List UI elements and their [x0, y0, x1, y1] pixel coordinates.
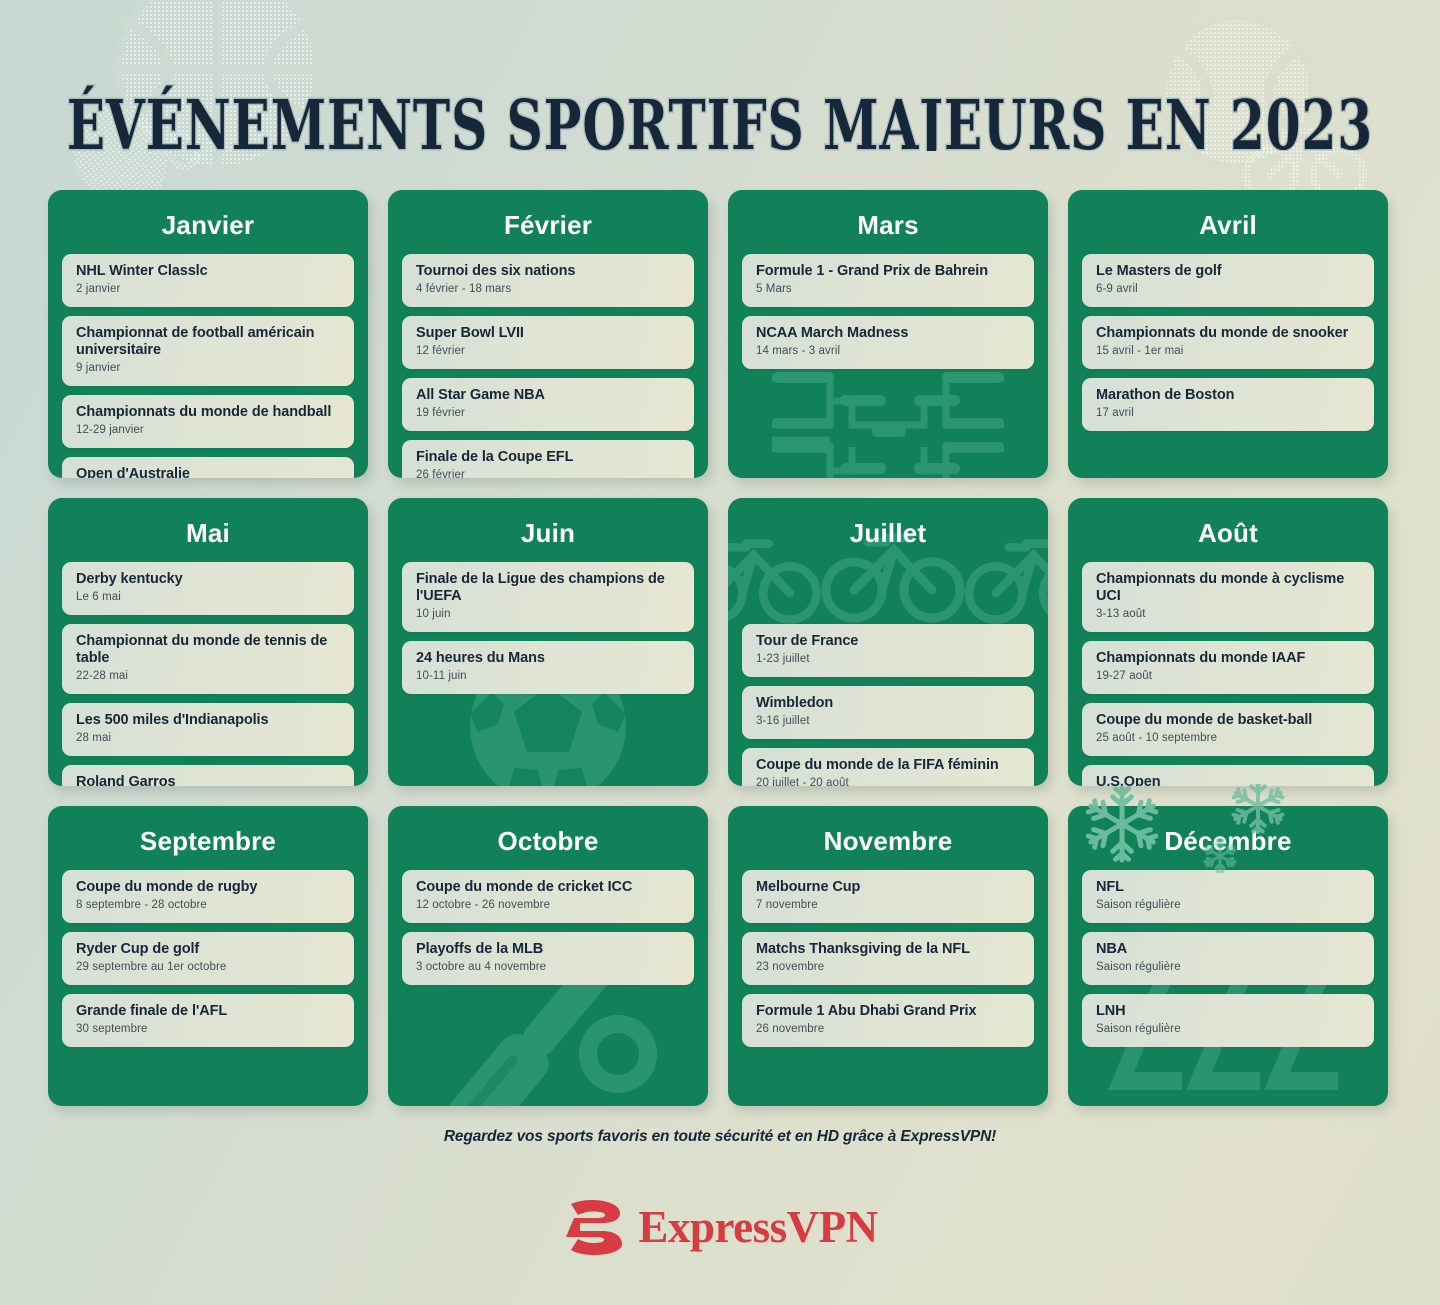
event-date: 10 juin — [416, 608, 682, 622]
event-item[interactable]: Open d'Australie16 au 29 janvier — [62, 457, 354, 478]
event-date: 10-11 juin — [416, 670, 682, 684]
month-card-janvier: JanvierNHL Winter Classlc2 janvierChampi… — [48, 190, 368, 478]
event-list: NHL Winter Classlc2 janvierChampionnat d… — [62, 254, 354, 478]
month-card-novembre: NovembreMelbourne Cup7 novembreMatchs Th… — [728, 806, 1048, 1106]
event-date: Saison régulière — [1096, 961, 1362, 975]
event-list: Melbourne Cup7 novembreMatchs Thanksgivi… — [742, 870, 1034, 1047]
event-item[interactable]: Matchs Thanksgiving de la NFL23 novembre — [742, 932, 1034, 985]
event-name: Marathon de Boston — [1096, 387, 1362, 404]
event-date: 19 février — [416, 407, 682, 421]
event-date: 12 février — [416, 345, 682, 359]
event-item[interactable]: NBASaison régulière — [1082, 932, 1374, 985]
month-title: Juillet — [742, 512, 1034, 562]
event-name: Ryder Cup de golf — [76, 941, 342, 958]
event-item[interactable]: NCAA March Madness14 mars - 3 avril — [742, 316, 1034, 369]
event-item[interactable]: Championnats du monde de handball12-29 j… — [62, 395, 354, 448]
event-item[interactable]: 24 heures du Mans10-11 juin — [402, 641, 694, 694]
month-card-avril: AvrilLe Masters de golf6-9 avrilChampion… — [1068, 190, 1388, 478]
event-item[interactable]: LNHSaison régulière — [1082, 994, 1374, 1047]
event-name: Finale de la Coupe EFL — [416, 449, 682, 466]
event-item[interactable]: Coupe du monde de basket-ball25 août - 1… — [1082, 703, 1374, 756]
month-title: Avril — [1082, 204, 1374, 254]
expressvpn-logo-icon — [562, 1198, 624, 1256]
event-item[interactable]: NHL Winter Classlc2 janvier — [62, 254, 354, 307]
event-name: Melbourne Cup — [756, 879, 1022, 896]
event-date: Saison régulière — [1096, 899, 1362, 913]
event-item[interactable]: All Star Game NBA19 février — [402, 378, 694, 431]
event-name: Formule 1 - Grand Prix de Bahrein — [756, 263, 1022, 280]
event-name: Coupe du monde de cricket ICC — [416, 879, 682, 896]
event-date: 29 septembre au 1er octobre — [76, 961, 342, 975]
event-name: Le Masters de golf — [1096, 263, 1362, 280]
event-name: Championnat de football américain univer… — [76, 325, 342, 359]
event-date: 4 février - 18 mars — [416, 283, 682, 297]
event-name: Championnats du monde à cyclisme UCI — [1096, 571, 1362, 605]
event-item[interactable]: Formule 1 - Grand Prix de Bahrein5 Mars — [742, 254, 1034, 307]
month-card-juillet: JuilletTour de France1-23 juilletWimbled… — [728, 498, 1048, 786]
event-item[interactable]: Championnat du monde de tennis de table2… — [62, 624, 354, 694]
event-name: LNH — [1096, 1003, 1362, 1020]
event-date: 3 octobre au 4 novembre — [416, 961, 682, 975]
event-item[interactable]: Formule 1 Abu Dhabi Grand Prix26 novembr… — [742, 994, 1034, 1047]
event-item[interactable]: Finale de la Ligue des champions de l'UE… — [402, 562, 694, 632]
month-title: Janvier — [62, 204, 354, 254]
event-date: 12-29 janvier — [76, 424, 342, 438]
event-date: Saison régulière — [1096, 1023, 1362, 1037]
page-title-text: ÉVÉNEMENTS SPORTIFS MAJEURS EN 2023 — [67, 85, 1373, 151]
event-item[interactable]: Championnats du monde de snooker15 avril… — [1082, 316, 1374, 369]
event-name: Championnats du monde IAAF — [1096, 650, 1362, 667]
event-date: 19-27 août — [1096, 670, 1362, 684]
event-date: 26 novembre — [756, 1023, 1022, 1037]
month-card-aot: AoûtChampionnats du monde à cyclisme UCI… — [1068, 498, 1388, 786]
event-date: 22-28 mai — [76, 670, 342, 684]
month-card-octobre: OctobreCoupe du monde de cricket ICC12 o… — [388, 806, 708, 1106]
event-name: NFL — [1096, 879, 1362, 896]
expressvpn-logo[interactable]: ExpressVPN — [0, 1198, 1440, 1256]
event-list: Le Masters de golf6-9 avrilChampionnats … — [1082, 254, 1374, 431]
event-name: Matchs Thanksgiving de la NFL — [756, 941, 1022, 958]
event-name: Wimbledon — [756, 695, 1022, 712]
event-list: NFLSaison régulièreNBASaison régulièreLN… — [1082, 870, 1374, 1047]
event-date: 2 janvier — [76, 283, 342, 297]
event-date: 9 janvier — [76, 362, 342, 376]
event-name: Coupe du monde de la FIFA féminin — [756, 757, 1022, 774]
event-name: Formule 1 Abu Dhabi Grand Prix — [756, 1003, 1022, 1020]
event-item[interactable]: Super Bowl LVII12 février — [402, 316, 694, 369]
footer-tagline: Regardez vos sports favoris en toute séc… — [0, 1128, 1440, 1146]
event-item[interactable]: NFLSaison régulière — [1082, 870, 1374, 923]
event-list: Finale de la Ligue des champions de l'UE… — [402, 562, 694, 694]
event-item[interactable]: Derby kentuckyLe 6 mai — [62, 562, 354, 615]
event-item[interactable]: Roland Garros28 mai - 11 juin — [62, 765, 354, 786]
event-name: Championnats du monde de handball — [76, 404, 342, 421]
event-date: 5 Mars — [756, 283, 1022, 297]
event-date: 1-23 juillet — [756, 653, 1022, 667]
event-name: Playoffs de la MLB — [416, 941, 682, 958]
month-title: Septembre — [62, 820, 354, 870]
expressvpn-wordmark: ExpressVPN — [638, 1205, 877, 1250]
month-card-septembre: SeptembreCoupe du monde de rugby8 septem… — [48, 806, 368, 1106]
event-item[interactable]: Finale de la Coupe EFL26 février — [402, 440, 694, 478]
event-date: 14 mars - 3 avril — [756, 345, 1022, 359]
event-list: Derby kentuckyLe 6 maiChampionnat du mon… — [62, 562, 354, 786]
event-name: Finale de la Ligue des champions de l'UE… — [416, 571, 682, 605]
month-title: Juin — [402, 512, 694, 562]
event-date: Le 6 mai — [76, 591, 342, 605]
months-grid: JanvierNHL Winter Classlc2 janvierChampi… — [48, 190, 1392, 1106]
event-item[interactable]: Championnats du monde IAAF19-27 août — [1082, 641, 1374, 694]
event-date: 26 février — [416, 469, 682, 478]
event-date: 25 août - 10 septembre — [1096, 732, 1362, 746]
event-list: Coupe du monde de cricket ICC12 octobre … — [402, 870, 694, 985]
event-date: 30 septembre — [76, 1023, 342, 1037]
event-name: Grande finale de l'AFL — [76, 1003, 342, 1020]
page-title: ÉVÉNEMENTS SPORTIFS MAJEURS EN 2023 — [0, 0, 1440, 182]
event-item[interactable]: Melbourne Cup7 novembre — [742, 870, 1034, 923]
event-name: Les 500 miles d'Indianapolis — [76, 712, 342, 729]
event-name: Coupe du monde de rugby — [76, 879, 342, 896]
event-name: Tour de France — [756, 633, 1022, 650]
event-date: 12 octobre - 26 novembre — [416, 899, 682, 913]
month-title: Août — [1082, 512, 1374, 562]
event-date: 6-9 avril — [1096, 283, 1362, 297]
event-name: 24 heures du Mans — [416, 650, 682, 667]
month-title: Février — [402, 204, 694, 254]
event-item[interactable]: U.S.Open28 août - 10 septembre — [1082, 765, 1374, 786]
event-name: Championnats du monde de snooker — [1096, 325, 1362, 342]
event-name: Super Bowl LVII — [416, 325, 682, 342]
event-name: Championnat du monde de tennis de table — [76, 633, 342, 667]
month-title: Mars — [742, 204, 1034, 254]
event-name: Coupe du monde de basket-ball — [1096, 712, 1362, 729]
event-date: 8 septembre - 28 octobre — [76, 899, 342, 913]
event-date: 20 juillet - 20 août — [756, 777, 1022, 786]
event-item[interactable]: Marathon de Boston17 avril — [1082, 378, 1374, 431]
event-item[interactable]: Ryder Cup de golf29 septembre au 1er oct… — [62, 932, 354, 985]
event-name: Tournoi des six nations — [416, 263, 682, 280]
event-item[interactable]: Coupe du monde de rugby8 septembre - 28 … — [62, 870, 354, 923]
event-date: 15 avril - 1er mai — [1096, 345, 1362, 359]
month-title: Mai — [62, 512, 354, 562]
month-title: Octobre — [402, 820, 694, 870]
month-card-juin: JuinFinale de la Ligue des champions de … — [388, 498, 708, 786]
event-item[interactable]: Championnat de football américain univer… — [62, 316, 354, 386]
event-date: 7 novembre — [756, 899, 1022, 913]
event-item[interactable]: Grande finale de l'AFL30 septembre — [62, 994, 354, 1047]
event-item[interactable]: Les 500 miles d'Indianapolis28 mai — [62, 703, 354, 756]
event-list: Coupe du monde de rugby8 septembre - 28 … — [62, 870, 354, 1047]
month-card-mai: MaiDerby kentuckyLe 6 maiChampionnat du … — [48, 498, 368, 786]
event-name: All Star Game NBA — [416, 387, 682, 404]
event-item[interactable]: Playoffs de la MLB3 octobre au 4 novembr… — [402, 932, 694, 985]
event-date: 23 novembre — [756, 961, 1022, 975]
month-title: Décembre — [1082, 820, 1374, 870]
event-list: Tour de France1-23 juilletWimbledon3-16 … — [742, 624, 1034, 786]
event-date: 28 mai — [76, 732, 342, 746]
event-item[interactable]: Coupe du monde de la FIFA féminin20 juil… — [742, 748, 1034, 786]
event-date: 3-13 août — [1096, 608, 1362, 622]
event-name: NBA — [1096, 941, 1362, 958]
event-list: Championnats du monde à cyclisme UCI3-13… — [1082, 562, 1374, 786]
event-date: 17 avril — [1096, 407, 1362, 421]
event-name: Derby kentucky — [76, 571, 342, 588]
month-card-mars: MarsFormule 1 - Grand Prix de Bahrein5 M… — [728, 190, 1048, 478]
month-card-dcembre: DécembreNFLSaison régulièreNBASaison rég… — [1068, 806, 1388, 1106]
event-item[interactable]: Le Masters de golf6-9 avril — [1082, 254, 1374, 307]
event-item[interactable]: Tour de France1-23 juillet — [742, 624, 1034, 677]
event-name: NCAA March Madness — [756, 325, 1022, 342]
event-name: Open d'Australie — [76, 466, 342, 478]
event-item[interactable]: Tournoi des six nations4 février - 18 ma… — [402, 254, 694, 307]
event-name: Roland Garros — [76, 774, 342, 786]
month-card-fvrier: FévrierTournoi des six nations4 février … — [388, 190, 708, 478]
event-date: 3-16 juillet — [756, 715, 1022, 729]
event-name: NHL Winter Classlc — [76, 263, 342, 280]
event-list: Formule 1 - Grand Prix de Bahrein5 MarsN… — [742, 254, 1034, 369]
event-item[interactable]: Coupe du monde de cricket ICC12 octobre … — [402, 870, 694, 923]
event-item[interactable]: Championnats du monde à cyclisme UCI3-13… — [1082, 562, 1374, 632]
event-list: Tournoi des six nations4 février - 18 ma… — [402, 254, 694, 478]
month-title: Novembre — [742, 820, 1034, 870]
event-item[interactable]: Wimbledon3-16 juillet — [742, 686, 1034, 739]
event-name: U.S.Open — [1096, 774, 1362, 786]
